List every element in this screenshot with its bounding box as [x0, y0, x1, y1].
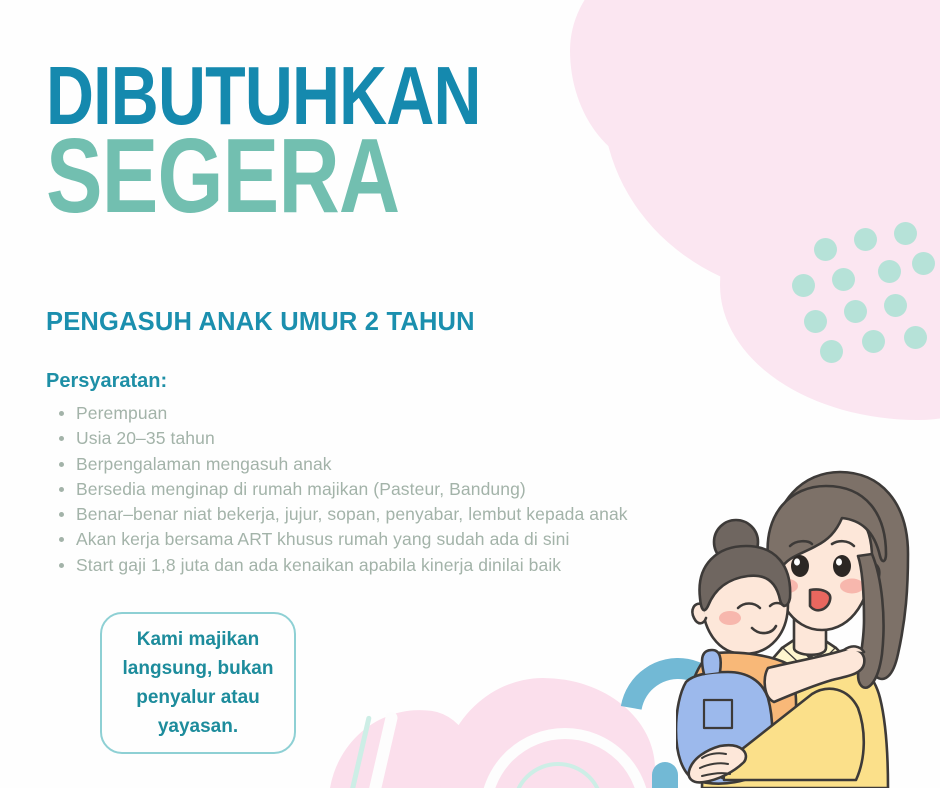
requirement-item: Berpengalaman mengasuh anak: [52, 452, 628, 477]
woman-right-cheek: [840, 579, 864, 594]
headline-block: DIBUTUHKAN SEGERA: [46, 58, 589, 226]
requirement-item: Usia 20–35 tahun: [52, 426, 628, 451]
pink-blob-shape-primary: [560, 0, 940, 340]
woman-right-eye: [833, 555, 851, 577]
job-position-subtitle: PENGASUH ANAK UMUR 2 TAHUN: [46, 308, 475, 337]
decorative-dot: [912, 252, 935, 275]
swirl-white-ring: [480, 728, 650, 788]
decorative-dot: [854, 228, 877, 251]
callout-box: Kami majikan langsung, bukan penyalur at…: [100, 612, 296, 754]
headline-line-2: SEGERA: [46, 128, 481, 226]
decorative-dot: [862, 330, 885, 353]
decorative-dot: [884, 294, 907, 317]
swirl-teal-stripe: [333, 715, 372, 788]
pink-blob-shape-secondary: [720, 120, 940, 420]
poster-canvas: DIBUTUHKAN SEGERA PENGASUH ANAK UMUR 2 T…: [0, 0, 940, 788]
swirl-teal-ring: [512, 762, 604, 788]
requirement-item: Perempuan: [52, 401, 628, 426]
decorative-dot: [820, 340, 843, 363]
swirl-white-stripe: [353, 711, 398, 788]
decorative-dot: [804, 310, 827, 333]
child-cheek: [719, 611, 741, 625]
decorative-dot: [832, 268, 855, 291]
decorative-dot: [814, 238, 837, 261]
woman-mouth: [810, 589, 830, 610]
swirl-pink-shape-left: [319, 698, 491, 788]
teal-dot-grid-decoration: [792, 222, 932, 352]
requirement-item: Start gaji 1,8 juta dan ada kenaikan apa…: [52, 553, 628, 578]
child-overall-strap: [702, 650, 721, 674]
callout-text: Kami majikan langsung, bukan penyalur at…: [102, 625, 294, 741]
decorative-dot: [844, 300, 867, 323]
requirement-item: Bersedia menginap di rumah majikan (Past…: [52, 477, 628, 502]
decorative-dot: [878, 260, 901, 283]
requirement-item: Akan kerja bersama ART khusus rumah yang…: [52, 527, 628, 552]
swirl-pink-shape-right: [440, 678, 655, 788]
decorative-dot: [894, 222, 917, 245]
requirement-item: Benar–benar niat bekerja, jujur, sopan, …: [52, 502, 628, 527]
blue-pill-shape: [652, 762, 678, 788]
decorative-dot: [904, 326, 927, 349]
woman-holding-child-illustration: [676, 458, 940, 788]
pink-blob-shape-tertiary: [570, 0, 810, 170]
woman-left-eye: [791, 555, 809, 577]
bottom-swirl-decoration: [330, 666, 660, 788]
requirements-list: PerempuanUsia 20–35 tahunBerpengalaman m…: [52, 401, 628, 578]
requirements-heading: Persyaratan:: [46, 370, 167, 393]
decorative-dot: [792, 274, 815, 297]
